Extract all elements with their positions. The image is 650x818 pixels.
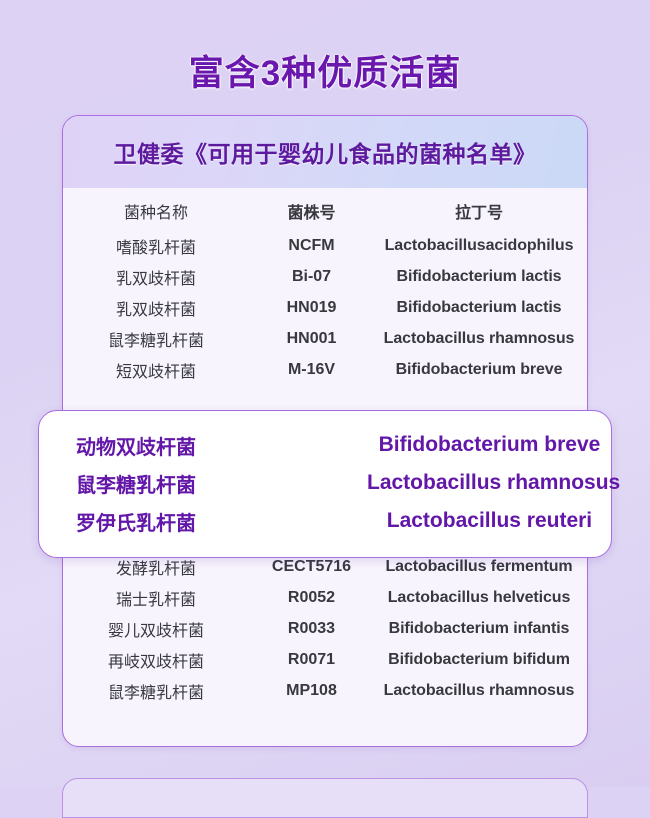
cell-name: 短双歧杆菌 <box>63 358 249 382</box>
cell-name: 鼠李糖乳杆菌 <box>63 679 249 703</box>
highlight-row: 罗伊氏乳杆菌 Lactobacillus reuteri <box>39 502 611 540</box>
card-header: 卫健委《可用于婴幼儿食品的菌种名单》 <box>63 116 587 188</box>
card-header-title: 卫健委《可用于婴幼儿食品的菌种名单》 <box>114 135 537 169</box>
cell-latin: Bifidobacterium breve <box>374 361 584 379</box>
highlighted-strains-card: 动物双歧杆菌 Bifidobacterium breve 鼠李糖乳杆菌 Lact… <box>38 410 612 558</box>
next-section-card-partial <box>62 778 588 818</box>
cell-strain: R0033 <box>249 620 374 638</box>
table-row: 鼠李糖乳杆菌 HN001 Lactobacillus rhamnosus <box>63 323 587 354</box>
table-row: 瑞士乳杆菌 R0052 Lactobacillus helveticus <box>63 582 587 613</box>
table-row: 再岐双歧杆菌 R0071 Bifidobacterium bifidum <box>63 644 587 675</box>
highlight-row: 动物双歧杆菌 Bifidobacterium breve <box>39 426 611 464</box>
cell-name: 瑞士乳杆菌 <box>63 586 249 610</box>
column-header-name: 菌种名称 <box>63 199 249 223</box>
cell-name: 鼠李糖乳杆菌 <box>63 327 249 351</box>
table-row: 乳双歧杆菌 HN019 Bifidobacterium lactis <box>63 292 587 323</box>
highlight-name: 鼠李糖乳杆菌 <box>39 469 367 498</box>
cell-latin: Bifidobacterium infantis <box>374 620 584 638</box>
cell-name: 发酵乳杆菌 <box>63 555 249 579</box>
highlight-latin: Bifidobacterium breve <box>368 433 611 457</box>
cell-latin: Lactobacillus rhamnosus <box>374 330 584 348</box>
cell-latin: Lactobacillusacidophilus <box>374 237 584 255</box>
column-header-strain: 菌株号 <box>249 199 374 223</box>
table-row: 嗜酸乳杆菌 NCFM Lactobacillusacidophilus <box>63 230 587 261</box>
cell-strain: R0052 <box>249 589 374 607</box>
cell-strain: MP108 <box>249 682 374 700</box>
cell-strain: Bi-07 <box>249 268 374 286</box>
cell-strain: CECT5716 <box>249 558 374 576</box>
cell-latin: Lactobacillus helveticus <box>374 589 584 607</box>
table-row: 乳双歧杆菌 Bi-07 Bifidobacterium lactis <box>63 261 587 292</box>
cell-strain: HN001 <box>249 330 374 348</box>
page-title: 富含3种优质活菌 <box>0 45 650 96</box>
cell-latin: Bifidobacterium lactis <box>374 299 584 317</box>
highlight-name: 罗伊氏乳杆菌 <box>39 507 368 536</box>
highlight-latin: Lactobacillus reuteri <box>368 509 611 533</box>
highlight-latin: Lactobacillus rhamnosus <box>367 471 611 495</box>
page-root: 富含3种优质活菌 卫健委《可用于婴幼儿食品的菌种名单》 菌种名称 菌株号 拉丁号… <box>0 0 650 787</box>
cell-name: 再岐双歧杆菌 <box>63 648 249 672</box>
cell-latin: Bifidobacterium lactis <box>374 268 584 286</box>
table-row: 短双歧杆菌 M-16V Bifidobacterium breve <box>63 354 587 385</box>
table-header-row: 菌种名称 菌株号 拉丁号 <box>63 192 587 230</box>
cell-strain: NCFM <box>249 237 374 255</box>
column-header-latin: 拉丁号 <box>374 199 584 223</box>
cell-strain: M-16V <box>249 361 374 379</box>
cell-name: 乳双歧杆菌 <box>63 265 249 289</box>
highlight-name: 动物双歧杆菌 <box>39 431 368 460</box>
cell-latin: Bifidobacterium bifidum <box>374 651 584 669</box>
cell-latin: Lactobacillus rhamnosus <box>374 682 584 700</box>
table-row: 鼠李糖乳杆菌 MP108 Lactobacillus rhamnosus <box>63 675 587 706</box>
highlight-row: 鼠李糖乳杆菌 Lactobacillus rhamnosus <box>39 464 611 502</box>
cell-strain: R0071 <box>249 651 374 669</box>
cell-strain: HN019 <box>249 299 374 317</box>
table-row: 婴儿双歧杆菌 R0033 Bifidobacterium infantis <box>63 613 587 644</box>
cell-name: 嗜酸乳杆菌 <box>63 234 249 258</box>
cell-name: 婴儿双歧杆菌 <box>63 617 249 641</box>
cell-latin: Lactobacillus fermentum <box>374 558 584 576</box>
cell-name: 乳双歧杆菌 <box>63 296 249 320</box>
